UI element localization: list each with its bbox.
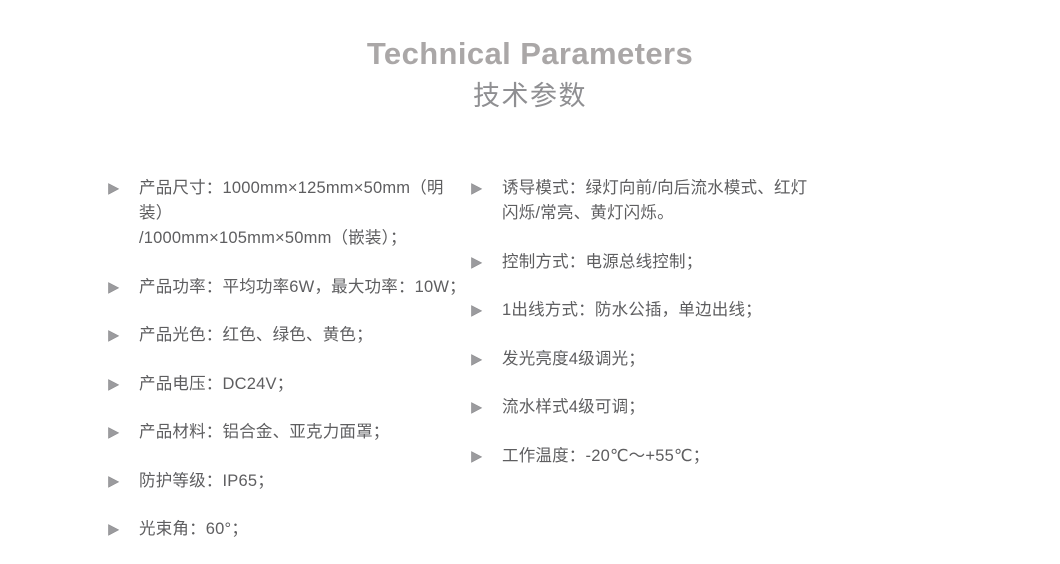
spec-item-text: 产品尺寸：1000mm×125mm×50mm（明装） /1000mm×105mm… [139, 176, 470, 251]
spec-item: 产品尺寸：1000mm×125mm×50mm（明装） /1000mm×105mm… [107, 176, 470, 251]
spec-item-text: 产品材料：铝合金、亚克力面罩； [139, 420, 470, 445]
spec-column-left: 产品尺寸：1000mm×125mm×50mm（明装） /1000mm×105mm… [0, 176, 470, 542]
spec-item-text: 产品电压：DC24V； [139, 372, 470, 397]
specifications-container: 产品尺寸：1000mm×125mm×50mm（明装） /1000mm×105mm… [0, 176, 1060, 542]
spec-item-text: 诱导模式：绿灯向前/向后流水模式、红灯 闪烁/常亮、黄灯闪烁。 [502, 176, 940, 226]
arrowhead-right-icon [470, 395, 492, 414]
spec-item-text: 流水样式4级可调； [502, 395, 940, 420]
arrowhead-right-icon [107, 420, 129, 439]
arrowhead-right-icon [107, 517, 129, 536]
spec-column-right: 诱导模式：绿灯向前/向后流水模式、红灯 闪烁/常亮、黄灯闪烁。控制方式：电源总线… [470, 176, 940, 469]
spec-item-text: 控制方式：电源总线控制； [502, 250, 940, 275]
arrowhead-right-icon [107, 176, 129, 195]
page-header: Technical Parameters 技术参数 [0, 0, 1060, 115]
spec-item: 产品光色：红色、绿色、黄色； [107, 323, 470, 348]
spec-item: 1出线方式：防水公插，单边出线； [470, 298, 940, 323]
arrowhead-right-icon [107, 372, 129, 391]
spec-item: 光束角：60°； [107, 517, 470, 542]
arrowhead-right-icon [470, 176, 492, 195]
arrowhead-right-icon [470, 347, 492, 366]
arrowhead-right-icon [470, 250, 492, 269]
spec-item: 产品材料：铝合金、亚克力面罩； [107, 420, 470, 445]
spec-item: 产品电压：DC24V； [107, 372, 470, 397]
spec-item-text: 工作温度：-20℃～+55℃； [502, 444, 940, 469]
technical-parameters-page: Technical Parameters 技术参数 产品尺寸：1000mm×12… [0, 0, 1060, 564]
spec-item: 流水样式4级可调； [470, 395, 940, 420]
spec-item: 发光亮度4级调光； [470, 347, 940, 372]
arrowhead-right-icon [470, 444, 492, 463]
arrowhead-right-icon [107, 469, 129, 488]
spec-item: 产品功率：平均功率6W，最大功率：10W； [107, 275, 470, 300]
spec-item: 工作温度：-20℃～+55℃； [470, 444, 940, 469]
spec-item-text: 产品光色：红色、绿色、黄色； [139, 323, 470, 348]
page-title-chinese: 技术参数 [0, 77, 1060, 115]
spec-item-text: 1出线方式：防水公插，单边出线； [502, 298, 940, 323]
spec-item: 控制方式：电源总线控制； [470, 250, 940, 275]
spec-item: 诱导模式：绿灯向前/向后流水模式、红灯 闪烁/常亮、黄灯闪烁。 [470, 176, 940, 226]
spec-item-text: 光束角：60°； [139, 517, 470, 542]
arrowhead-right-icon [470, 298, 492, 317]
page-title-english: Technical Parameters [0, 34, 1060, 74]
arrowhead-right-icon [107, 275, 129, 294]
spec-item: 防护等级：IP65； [107, 469, 470, 494]
spec-item-text: 产品功率：平均功率6W，最大功率：10W； [139, 275, 470, 300]
arrowhead-right-icon [107, 323, 129, 342]
spec-item-text: 防护等级：IP65； [139, 469, 470, 494]
spec-item-text: 发光亮度4级调光； [502, 347, 940, 372]
